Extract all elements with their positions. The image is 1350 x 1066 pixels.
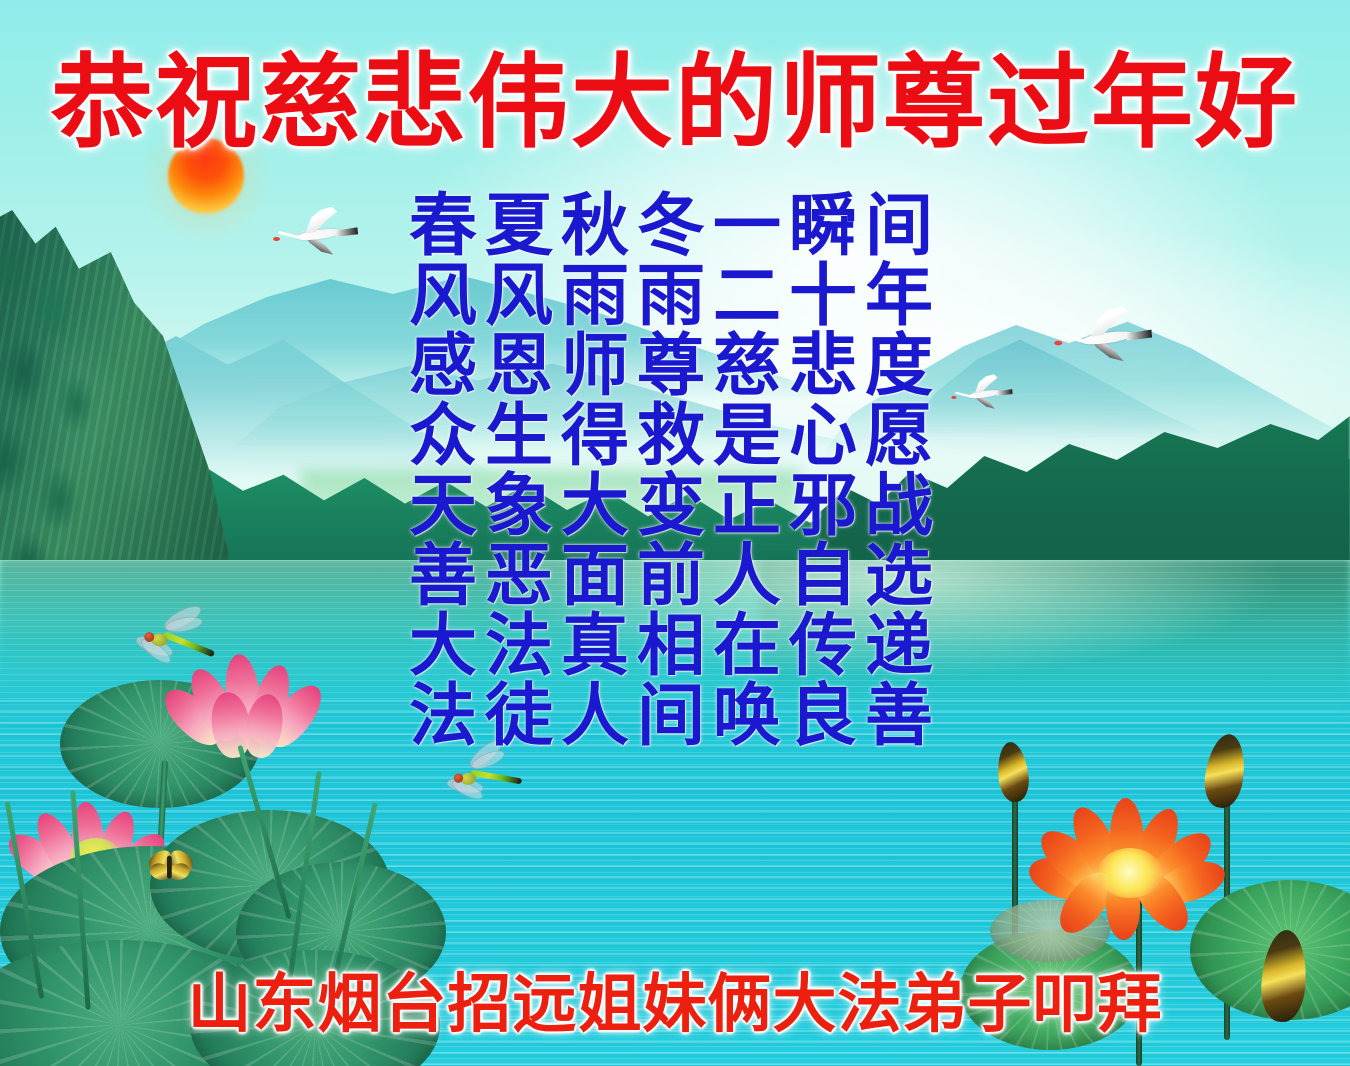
signature-text: 山东烟台招远姐妹俩大法弟子叩拜 xyxy=(0,972,1350,1038)
poem-block: 春夏秋冬一瞬间 风风雨雨二十年 感恩师尊慈悲度 众生得救是心愿 天象大变正邪战 … xyxy=(0,192,1350,752)
poem-line: 风风雨雨二十年 xyxy=(0,262,1350,332)
poem-line: 天象大变正邪战 xyxy=(0,472,1350,542)
poem-line: 大法真相在传递 xyxy=(0,612,1350,682)
page-title: 恭祝慈悲伟大的师尊过年好 xyxy=(0,52,1350,156)
poem-line: 春夏秋冬一瞬间 xyxy=(0,192,1350,262)
poem-line: 众生得救是心愿 xyxy=(0,402,1350,472)
greeting-card: 恭祝慈悲伟大的师尊过年好 春夏秋冬一瞬间 风风雨雨二十年 感恩师尊慈悲度 众生得… xyxy=(0,0,1350,1066)
poem-line: 善恶面前人自选 xyxy=(0,542,1350,612)
lotus-center xyxy=(1098,848,1162,898)
poem-line: 感恩师尊慈悲度 xyxy=(0,332,1350,402)
lotus-flower-orange xyxy=(1040,800,1220,940)
butterfly-body xyxy=(167,856,172,879)
poem-line: 法徒人间唤良善 xyxy=(0,682,1350,752)
